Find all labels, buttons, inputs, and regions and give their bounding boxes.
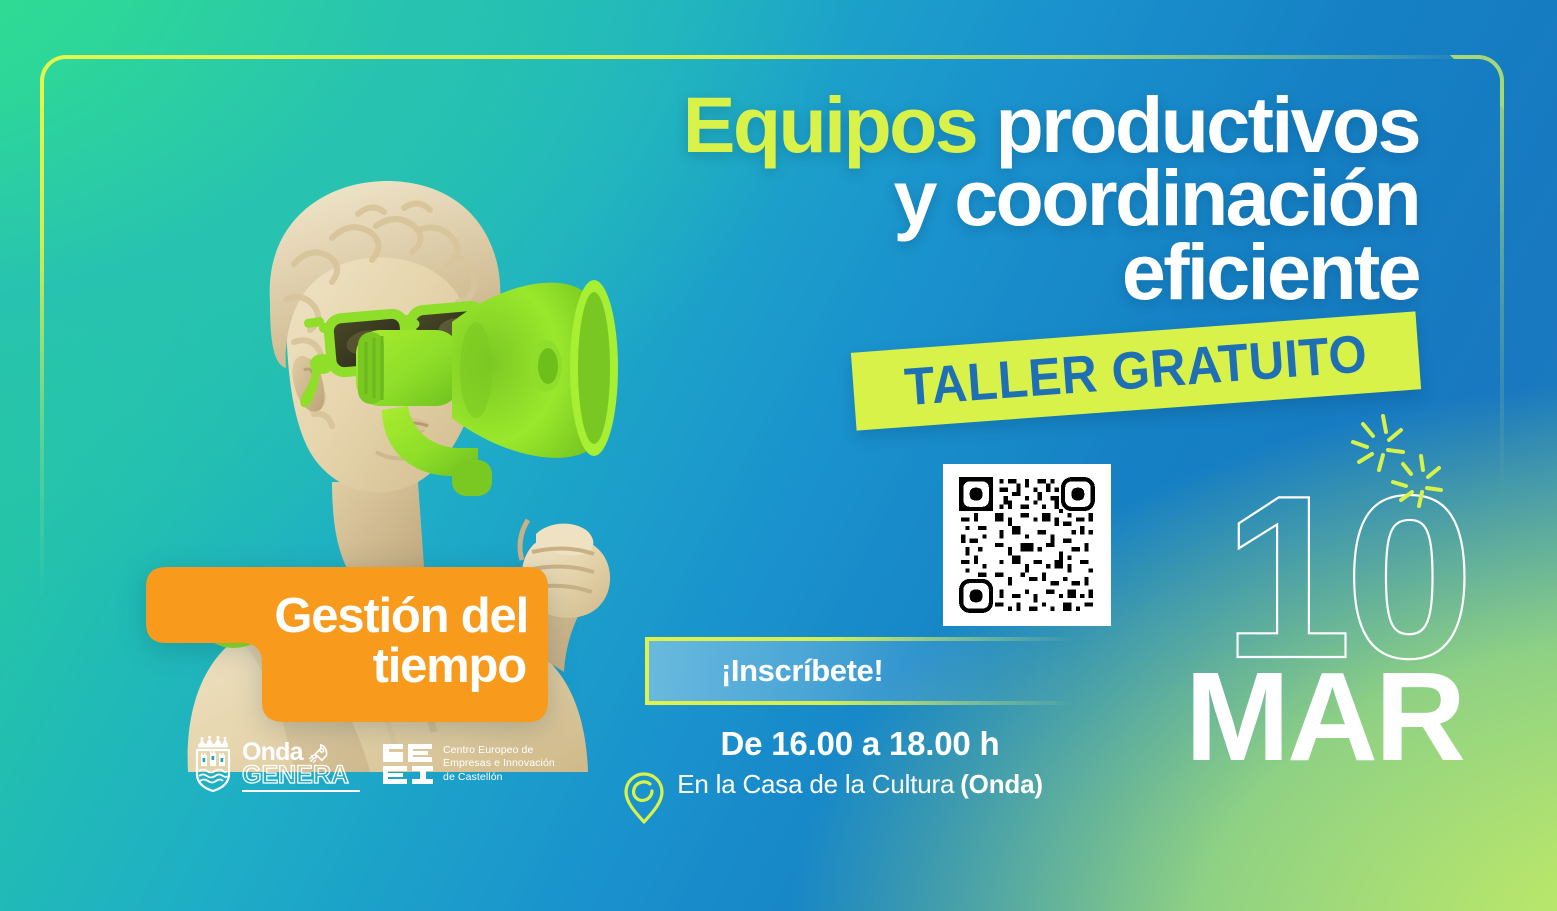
headline-line-2: y coordinación <box>549 161 1419 234</box>
event-details: De 16.00 a 18.00 h En la Casa de la Cult… <box>645 725 1075 800</box>
topic-badge-line2: tiempo <box>373 643 526 690</box>
frame-corner-top-right <box>1450 55 1504 109</box>
event-place: En la Casa de la Cultura (Onda) <box>645 769 1075 800</box>
logo-onda-rule <box>242 790 360 792</box>
headline-line-1: Equipos productivos <box>549 88 1419 161</box>
event-time: De 16.00 a 18.00 h <box>645 725 1075 763</box>
free-workshop-ribbon: TALLER GRATUITO <box>851 311 1421 430</box>
headline-line-3: eficiente <box>549 235 1419 308</box>
ceei-line2: Empresas e Innovación <box>443 757 555 770</box>
ceei-line3: de Castellón <box>443 771 555 784</box>
ceei-text: Centro Europeo de Empresas e Innovación … <box>443 744 555 784</box>
frame-edge-right <box>1500 81 1504 501</box>
logo-bar: Onda GENERA <box>192 736 555 792</box>
logo-ceei: Centro Europeo de Empresas e Innovación … <box>382 742 555 786</box>
signup-button-label: ¡Inscríbete! <box>645 637 1073 705</box>
topic-badge: Gestión del tiempo <box>124 567 548 722</box>
topic-badge-line1: Gestión del <box>274 593 528 640</box>
location-pin-icon <box>623 771 665 825</box>
onda-coat-of-arms-icon <box>192 736 234 792</box>
event-place-city: (Onda) <box>960 769 1043 800</box>
qr-code[interactable] <box>943 464 1111 626</box>
event-date-day: 10 <box>1185 488 1467 669</box>
event-place-text: En la Casa de la Cultura <box>677 769 954 800</box>
event-date-month: MAR <box>1185 663 1463 771</box>
frame-edge-left <box>40 81 44 601</box>
sparkle-doodle-icon <box>1347 412 1467 512</box>
ceei-line1: Centro Europeo de <box>443 744 555 757</box>
logo-genera-word: GENERA <box>242 765 360 787</box>
ribbon-label: TALLER GRATUITO <box>903 324 1370 418</box>
ceei-monogram <box>382 742 434 786</box>
logo-onda-genera: Onda GENERA <box>192 736 360 792</box>
signup-button[interactable]: ¡Inscríbete! <box>645 637 1073 705</box>
page-title: Equipos productivos y coordinación efici… <box>549 88 1419 308</box>
event-date: 10 MAR <box>1185 488 1467 771</box>
event-poster: Gestión del tiempo <box>0 0 1557 911</box>
frame-corner-top-left <box>40 55 94 109</box>
frame-edge-top <box>66 55 1478 59</box>
